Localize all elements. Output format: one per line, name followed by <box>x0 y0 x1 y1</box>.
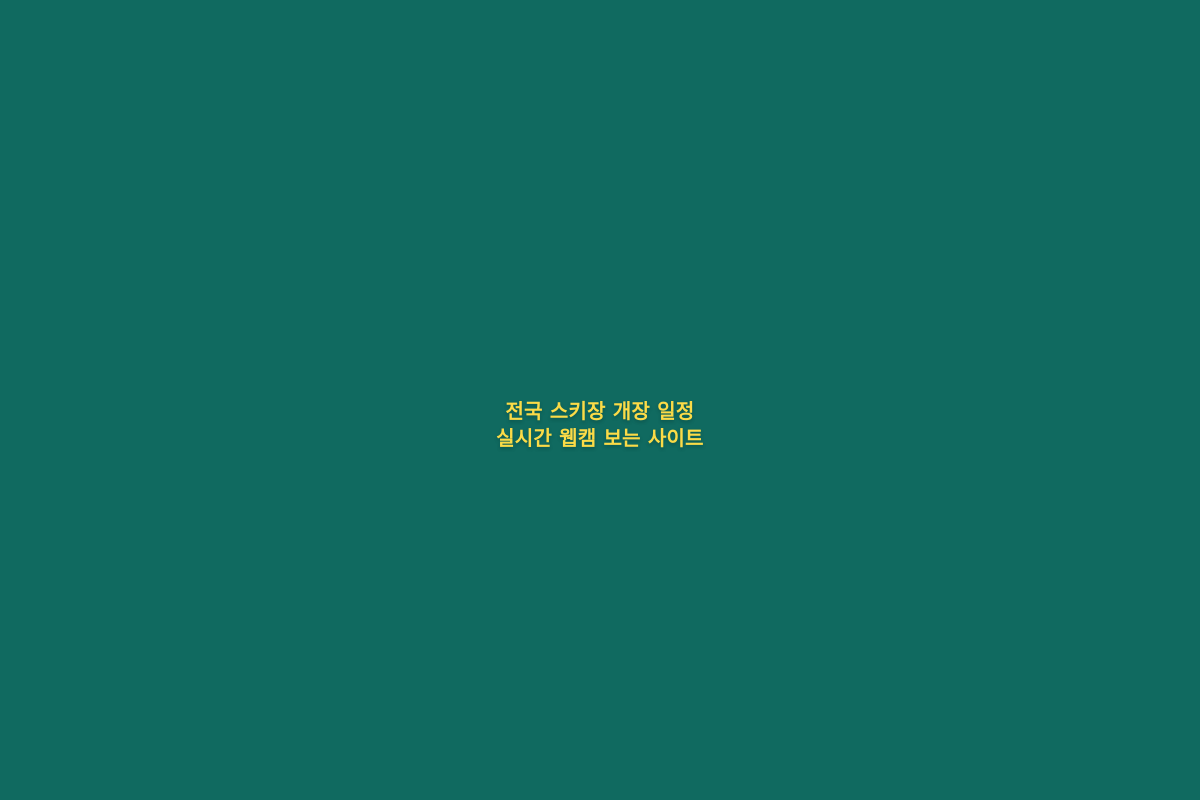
headline-line-1: 전국 스키장 개장 일정 <box>24 398 1176 425</box>
headline-block: 전국 스키장 개장 일정 실시간 웹캠 보는 사이트 <box>0 398 1200 452</box>
banner-card: 전국 스키장 개장 일정 실시간 웹캠 보는 사이트 <box>0 0 1200 800</box>
headline-line-2: 실시간 웹캠 보는 사이트 <box>24 425 1176 452</box>
